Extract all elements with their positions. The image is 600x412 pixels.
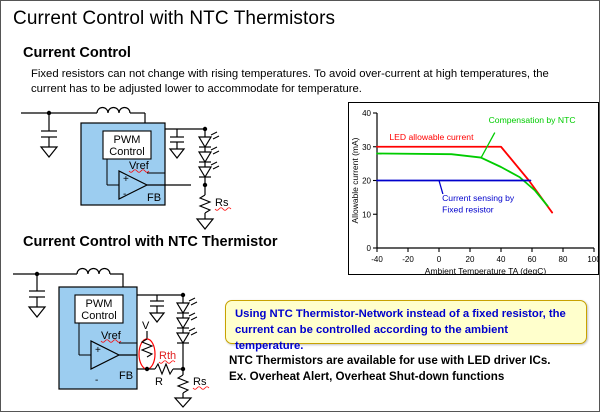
x-tick-label: 40: [497, 255, 506, 264]
ic2-vref-label: Vref: [101, 330, 122, 342]
ic2-rs-label: Rs: [193, 376, 207, 388]
x-tick-label: 20: [466, 255, 475, 264]
chart-allowable-current-vs-temperature: 010203040-40-20020406080100Ambient Tempe…: [348, 102, 599, 275]
ic2-opamp-minus: -: [95, 375, 98, 386]
ic2-pwm-label-line1: PWM: [86, 298, 113, 310]
callout-text: Using NTC Thermistor-Network instead of …: [235, 306, 579, 354]
chart-annotation: Compensation by NTC: [489, 115, 576, 125]
y-tick-label: 0: [367, 244, 372, 253]
ic2-fb-label: FB: [119, 370, 133, 382]
circuit-diagram-ntc-thermistor: PWM Control + - Vref FB: [11, 267, 241, 409]
section-body-current-control: Fixed resistors can not change with risi…: [31, 67, 551, 97]
ic2-rth-label: Rth: [159, 350, 176, 362]
footer-note-line-2: Ex. Overheat Alert, Overheat Shut-down f…: [229, 369, 594, 385]
x-tick-label: -40: [371, 255, 383, 264]
y-tick-label: 30: [362, 143, 371, 152]
ic2-r-label: R: [155, 376, 163, 388]
x-tick-label: 60: [528, 255, 537, 264]
ic1-pwm-label-line2: Control: [109, 146, 144, 158]
x-axis-label: Ambient Temperature TA (degC): [425, 266, 547, 274]
footer-note: NTC Thermistors are available for use wi…: [229, 353, 594, 386]
ic1-vref-label: Vref: [129, 160, 150, 172]
footer-note-line-1: NTC Thermistors are available for use wi…: [229, 353, 594, 369]
x-tick-label: -20: [402, 255, 414, 264]
page-title: Current Control with NTC Thermistors: [13, 8, 335, 30]
x-tick-label: 0: [437, 255, 442, 264]
chart-annotation: Current sensing by: [442, 193, 515, 203]
y-axis-label: Allowable current (mA): [350, 137, 360, 223]
ic1-fb-label: FB: [147, 192, 161, 204]
y-tick-label: 10: [362, 210, 371, 219]
slide-canvas: Current Control with NTC Thermistors Cur…: [1, 1, 599, 411]
ic2-opamp-plus: +: [95, 345, 101, 356]
chart-annotation: Fixed resistor: [442, 205, 494, 215]
section-heading-current-control-ntc: Current Control with NTC Thermistor: [23, 234, 278, 250]
section-heading-current-control: Current Control: [23, 45, 131, 61]
ic1-opamp-plus: +: [123, 174, 129, 185]
leader-line-ntc: [481, 133, 495, 159]
y-tick-label: 20: [362, 177, 371, 186]
ic1-opamp-minus: -: [123, 189, 126, 200]
x-tick-label: 80: [559, 255, 568, 264]
ic1-pwm-label-line1: PWM: [114, 134, 141, 146]
chart-annotation: LED allowable current: [389, 132, 474, 142]
callout-box: Using NTC Thermistor-Network instead of …: [225, 300, 587, 344]
ic1-rs-label: Rs: [215, 197, 229, 209]
circuit-diagram-fixed-resistor: PWM Control + - Vref FB: [19, 105, 249, 233]
ic2-pwm-label-line2: Control: [81, 310, 116, 322]
ic2-v-label: V: [142, 320, 150, 332]
x-tick-label: 100: [587, 255, 598, 264]
y-tick-label: 40: [362, 109, 371, 118]
